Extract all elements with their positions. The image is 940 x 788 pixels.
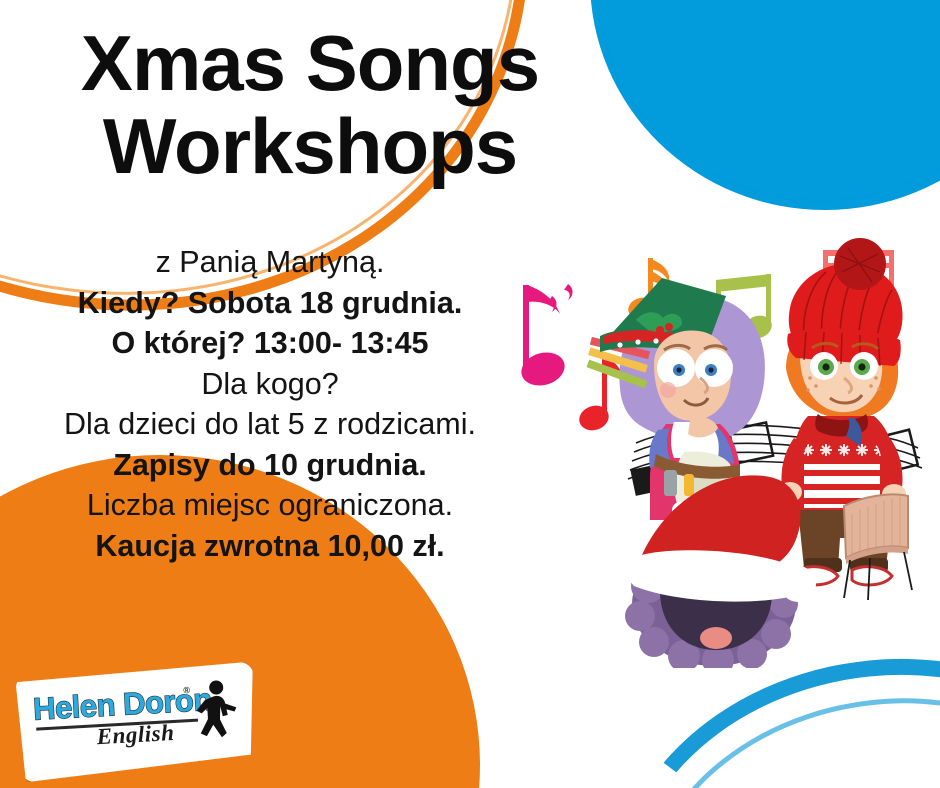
detail-line-teacher: z Panią Martyną.	[0, 242, 540, 283]
detail-line-deposit: Kaucja zwrotna 10,00 zł.	[0, 526, 540, 567]
helen-doron-english-logo[interactable]: Helen Doron ® English	[15, 661, 259, 782]
logo-content: Helen Doron ® English	[32, 680, 242, 761]
detail-line-capacity: Liczba miejsc ograniczona.	[0, 485, 540, 526]
title-line-2: Workshops	[0, 105, 620, 188]
detail-line-date: Kiedy? Sobota 18 grudnia.	[0, 283, 540, 324]
walking-person-icon	[190, 678, 241, 743]
logo-sub-text: English	[96, 720, 175, 750]
detail-line-audience: Dla dzieci do lat 5 z rodzicami.	[0, 404, 540, 445]
details-block: z Panią Martyną. Kiedy? Sobota 18 grudni…	[0, 242, 540, 567]
christmas-carol-illustration	[508, 238, 940, 668]
poster-canvas: Xmas Songs Workshops z Panią Martyną. Ki…	[0, 0, 940, 788]
blue-circle-decoration	[590, 0, 940, 210]
detail-line-time: O której? 13:00- 13:45	[0, 323, 540, 364]
detail-line-audience-q: Dla kogo?	[0, 364, 540, 405]
detail-line-signup: Zapisy do 10 grudnia.	[0, 445, 540, 486]
title-line-1: Xmas Songs	[0, 22, 620, 105]
page-title: Xmas Songs Workshops	[0, 22, 620, 187]
